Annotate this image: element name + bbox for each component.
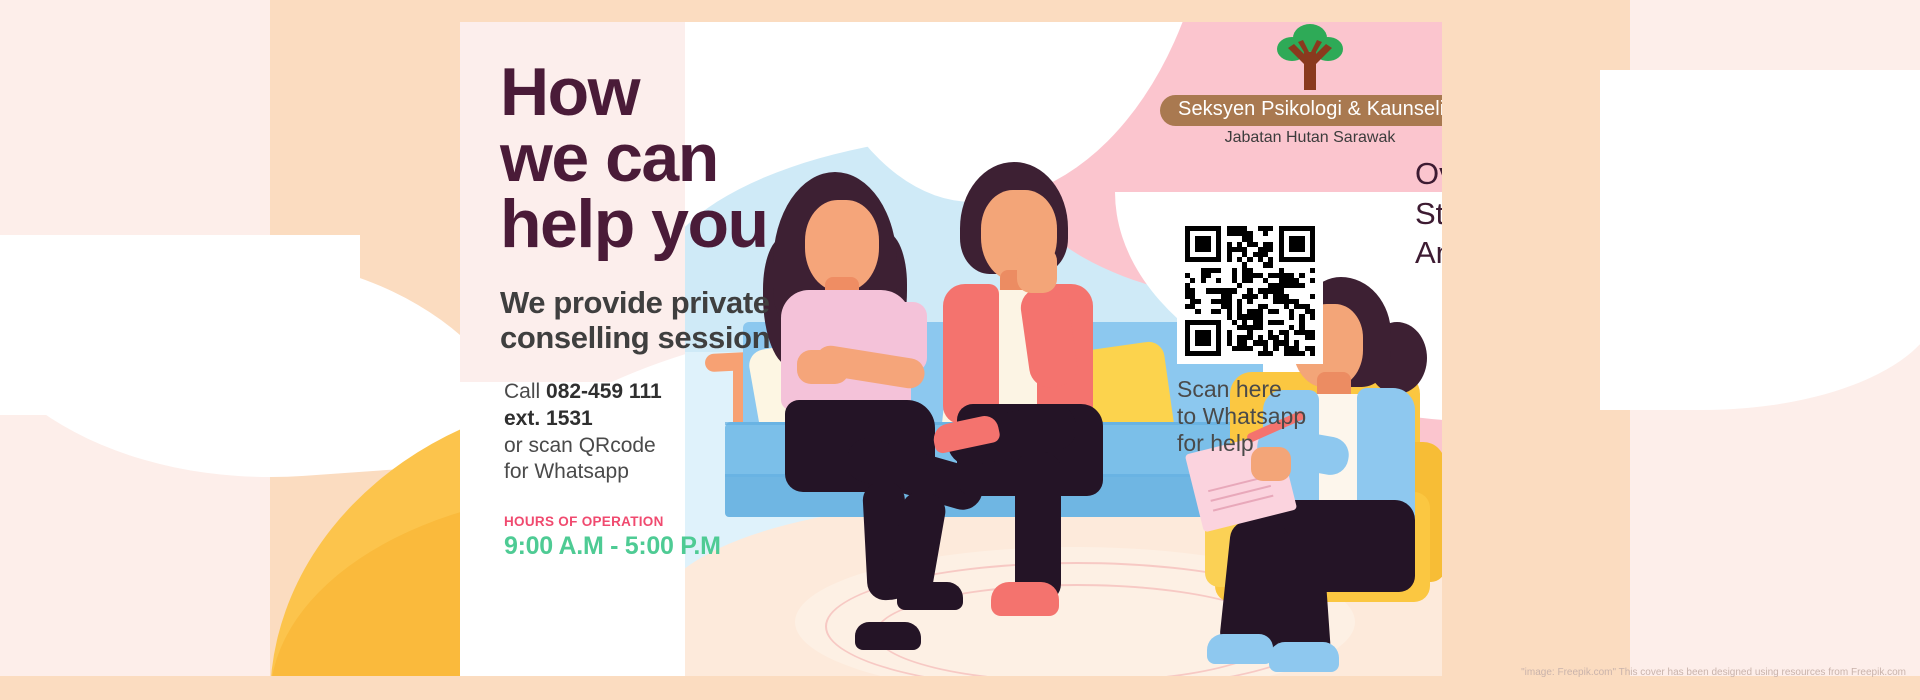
qr-code-card[interactable]	[1177, 218, 1323, 364]
organisation-logo: Seksyen Psikologi & Kaunseling Jabatan H…	[1160, 22, 1442, 150]
client-man-hand	[1017, 247, 1057, 293]
counsellor-shoe-back	[1207, 634, 1273, 664]
subheading-line-2: conselling session	[500, 321, 800, 356]
counsellor-shoe-front	[1269, 642, 1339, 672]
contact-whatsapp-line: for Whatsapp	[504, 459, 800, 486]
background-right-white-fill	[1600, 70, 1920, 320]
client-man-shin	[1015, 452, 1061, 602]
qr-caption-line-1: Scan here	[1177, 376, 1327, 403]
qr-code-image[interactable]	[1185, 226, 1315, 356]
client-man-jacket-left	[943, 284, 999, 424]
hours-label: HOURS OF OPERATION	[504, 514, 800, 529]
qr-caption-line-2: to Whatsapp	[1177, 403, 1327, 430]
question-line-1: Overwhelmed?	[1415, 154, 1442, 194]
page-title: How we can help you	[500, 60, 800, 258]
client-man-shoe-floor	[991, 582, 1059, 616]
hours-block: HOURS OF OPERATION 9:00 A.M - 5:00 P.M	[504, 514, 800, 561]
contact-scan-line: or scan QRcode	[504, 433, 800, 460]
call-label: Call	[504, 380, 546, 403]
question-line-3: Anxious?	[1415, 233, 1442, 273]
headline-line-2: we can	[500, 126, 800, 192]
poster-canvas: How we can help you We provide private c…	[0, 0, 1920, 700]
contact-phone-line: Call 082-459 111	[504, 379, 800, 406]
logo-pill-wrapper: Seksyen Psikologi & Kaunseling	[1160, 95, 1442, 126]
client-woman-shoe-front	[897, 582, 963, 610]
client-woman-shoe-back	[855, 622, 921, 650]
questions-block: Overwhelmed? Stressed? Anxious?	[1415, 154, 1442, 273]
hours-value: 9:00 A.M - 5:00 P.M	[504, 532, 800, 561]
client-woman-hand	[797, 350, 849, 384]
contact-extension-line: ext. 1531	[504, 406, 800, 433]
qr-caption-line-3: for help	[1177, 430, 1327, 457]
question-line-2: Stressed?	[1415, 194, 1442, 234]
poster-subheading: We provide private conselling session	[500, 286, 800, 355]
qr-panel: Scan here to Whatsapp for help	[1177, 218, 1327, 457]
subheading-line-1: We provide private	[500, 286, 800, 321]
background-bottom-strip	[0, 676, 1920, 700]
phone-number: 082-459 111	[546, 380, 662, 403]
logo-department-name: Jabatan Hutan Sarawak	[1160, 129, 1442, 147]
contact-block: Call 082-459 111 ext. 1531 or scan QRcod…	[504, 379, 800, 486]
credit-text: "image: Freepik.com" This cover has been…	[1521, 667, 1906, 678]
tree-icon	[1272, 22, 1348, 90]
qr-caption: Scan here to Whatsapp for help	[1177, 376, 1327, 457]
headline-line-3: help you	[500, 192, 800, 258]
phone-extension: ext. 1531	[504, 407, 593, 430]
headline-line-1: How	[500, 60, 800, 126]
logo-organisation-name: Seksyen Psikologi & Kaunseling	[1160, 95, 1442, 126]
poster-text-column: How we can help you We provide private c…	[500, 60, 800, 561]
